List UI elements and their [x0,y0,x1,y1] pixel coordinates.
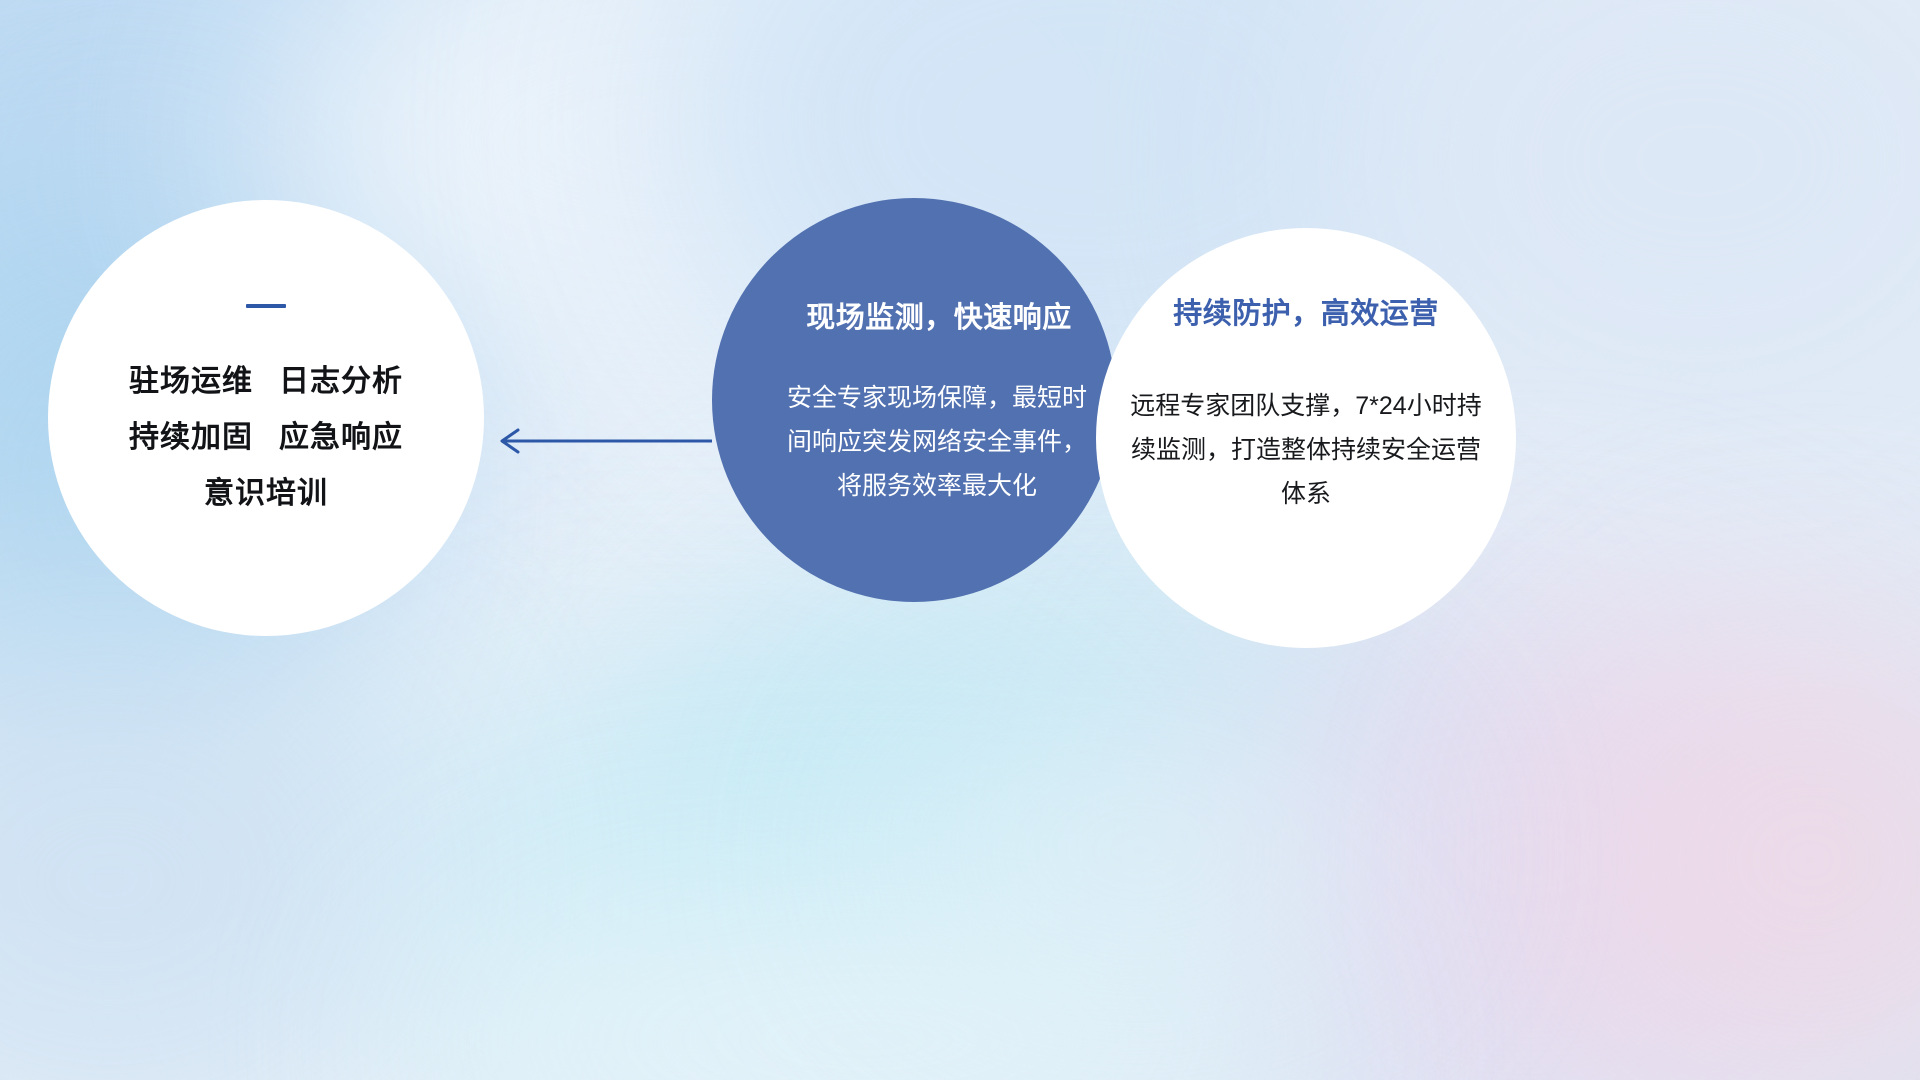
right-circle-body: 远程专家团队支撑，7*24小时持续监测，打造整体持续安全运营体系 [1130,384,1482,516]
keyword-rizhi-fenxi: 日志分析 [279,365,403,398]
list-item: 驻场运维日志分析 [129,354,403,410]
slide-canvas: 驻场运维日志分析 持续加固应急响应 意识培训 现场监测，快速响应 安全专家现场保… [0,0,1920,1080]
keyword-yingji-xiangying: 应急响应 [279,421,403,454]
leftward-arrow-icon [488,424,712,458]
left-circle-keyword-list: 驻场运维日志分析 持续加固应急响应 意识培训 [129,354,403,522]
keyword-yishi-peixun: 意识培训 [204,477,328,510]
list-item: 持续加固应急响应 [129,410,403,466]
left-service-circle[interactable]: 驻场运维日志分析 持续加固应急响应 意识培训 [48,200,484,636]
list-item: 意识培训 [129,466,403,522]
right-continuous-circle[interactable]: 持续防护，高效运营 远程专家团队支撑，7*24小时持续监测，打造整体持续安全运营… [1096,228,1516,648]
middle-circle-title: 现场监测，快速响应 [806,294,1072,336]
keyword-chixu-jiagu: 持续加固 [129,421,253,454]
keyword-zhuchang-yunwei: 驻场运维 [129,365,253,398]
middle-circle-body: 安全专家现场保障，最短时间响应突发网络安全事件，将服务效率最大化 [787,376,1087,508]
middle-onsite-circle[interactable]: 现场监测，快速响应 安全专家现场保障，最短时间响应突发网络安全事件，将服务效率最… [712,198,1116,602]
right-circle-title: 持续防护，高效运营 [1173,290,1439,332]
divider-dash [246,304,286,308]
